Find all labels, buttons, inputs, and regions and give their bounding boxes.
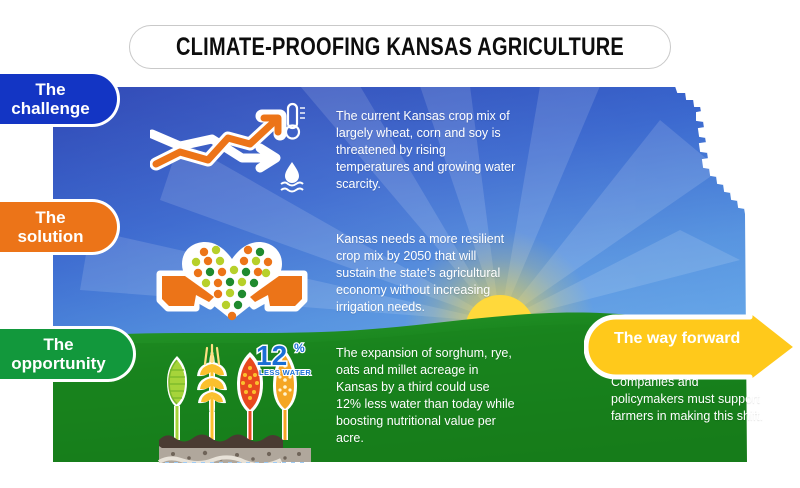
- challenge-icon-group: [150, 96, 315, 201]
- section-label-solution[interactable]: The solution: [0, 199, 120, 255]
- badge-caption: LESS WATER: [259, 368, 311, 377]
- water-drop-icon: [281, 162, 303, 192]
- section-label-opportunity-line1: The: [11, 335, 105, 354]
- section-label-opportunity-line2: opportunity: [11, 354, 105, 373]
- solution-icon-group: [152, 228, 312, 326]
- less-water-badge: 12 % LESS WATER: [256, 338, 316, 380]
- section-label-solution-line1: The: [17, 208, 83, 227]
- badge-percent: %: [294, 341, 305, 355]
- thermometer-icon: [286, 104, 305, 139]
- page-title-text: CLIMATE-PROOFING KANSAS AGRICULTURE: [176, 33, 624, 62]
- challenge-body-text: The current Kansas crop mix of largely w…: [336, 108, 516, 193]
- way-forward-label: The way forward: [614, 330, 740, 348]
- hands-holding-seed-heart-icon: [160, 242, 304, 320]
- section-label-challenge-line1: The: [11, 80, 89, 99]
- way-forward-body-text: Companies and policymakers must support …: [611, 374, 771, 425]
- section-label-opportunity[interactable]: The opportunity: [0, 326, 136, 382]
- badge-value: 12: [256, 340, 287, 371]
- solution-body-text: Kansas needs a more resilient crop mix b…: [336, 231, 516, 316]
- section-label-challenge-line2: challenge: [11, 99, 89, 118]
- opportunity-body-text: The expansion of sorghum, rye, oats and …: [336, 345, 516, 447]
- section-label-solution-line2: solution: [17, 227, 83, 246]
- section-label-challenge[interactable]: The challenge: [0, 71, 120, 127]
- page-title: CLIMATE-PROOFING KANSAS AGRICULTURE: [129, 25, 671, 69]
